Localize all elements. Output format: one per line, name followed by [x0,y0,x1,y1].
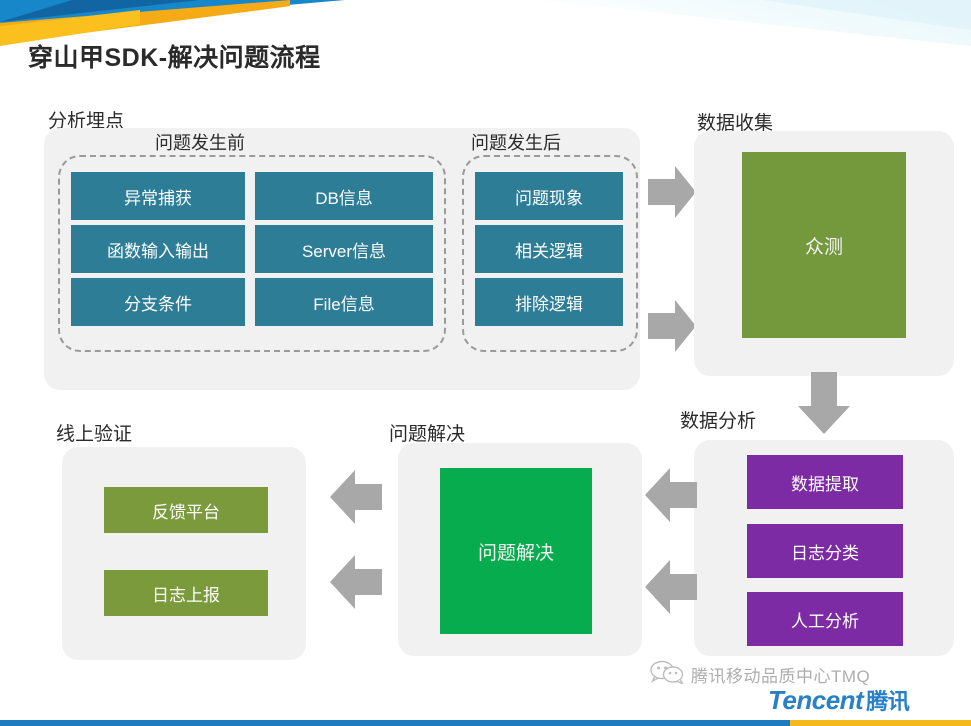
wechat-icon [650,660,684,689]
tencent-logo-cn: 腾讯 [866,689,909,714]
item-box-branch-condition[interactable]: 分支条件 [71,278,245,326]
item-box-server-info[interactable]: Server信息 [255,225,433,273]
big-box-crowd-testing[interactable]: 众测 [742,152,906,338]
section-label-data-analysis: 数据分析 [680,406,756,433]
group-title-after-issue: 问题发生后 [471,129,561,155]
item-box-feedback-platform[interactable]: 反馈平台 [104,487,268,533]
arrow-left-to-resolution-top [645,468,697,522]
item-box-manual-analysis[interactable]: 人工分析 [747,592,903,646]
slide-title: 穿山甲SDK-解决问题流程 [28,38,321,74]
footer-bar-blue [0,720,790,726]
arrow-right-to-collection-bottom [648,300,696,352]
slide-canvas: 穿山甲SDK-解决问题流程 分析埋点 问题发生前 异常捕获 函数输入输出 分支条… [0,0,971,726]
tencent-logo-en: Tencent [768,685,863,715]
group-title-before-issue: 问题发生前 [155,129,245,155]
panel-verification [62,447,306,660]
item-box-issue-phenomenon[interactable]: 问题现象 [475,172,623,220]
big-box-issue-resolved[interactable]: 问题解决 [440,468,592,634]
arrow-down-to-data-analysis [798,372,850,434]
footer-bar-orange [790,720,971,726]
tencent-logo: Tencent腾讯 [768,684,909,716]
arrow-left-to-verification-top [330,470,382,524]
banner-top-right-wedge [541,0,971,46]
section-label-resolution: 问题解决 [389,419,465,446]
arrow-right-to-collection-top [648,166,696,218]
item-box-log-report[interactable]: 日志上报 [104,570,268,616]
arrow-left-to-verification-bottom [330,555,382,609]
banner-top-right-wedge-inner [671,0,971,30]
item-box-function-io[interactable]: 函数输入输出 [71,225,245,273]
item-box-data-extraction[interactable]: 数据提取 [747,455,903,509]
arrow-left-to-resolution-bottom [645,560,697,614]
item-box-db-info[interactable]: DB信息 [255,172,433,220]
item-box-related-logic[interactable]: 相关逻辑 [475,225,623,273]
item-box-file-info[interactable]: File信息 [255,278,433,326]
section-label-verification: 线上验证 [56,419,132,446]
footer-bar [0,720,971,726]
item-box-exclusion-logic[interactable]: 排除逻辑 [475,278,623,326]
item-box-exception-capture[interactable]: 异常捕获 [71,172,245,220]
item-box-log-classification[interactable]: 日志分类 [747,524,903,578]
